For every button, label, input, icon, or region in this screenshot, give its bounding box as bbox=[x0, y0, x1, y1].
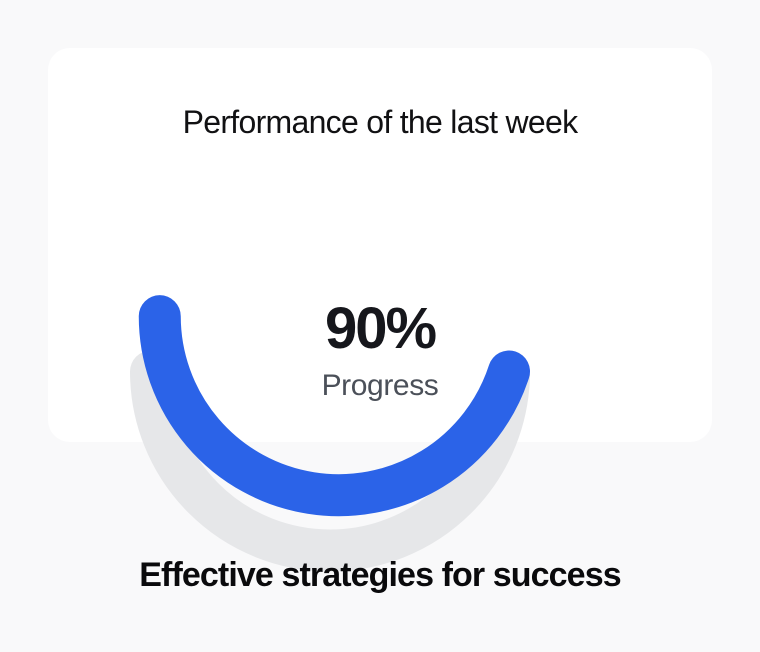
gauge-chart: 90% Progress bbox=[48, 162, 712, 412]
page-title: Performance of the last week bbox=[48, 102, 712, 142]
page-root: Performance of the last week 90% Progres… bbox=[0, 0, 760, 652]
gauge-arc-svg bbox=[130, 162, 530, 402]
gauge-progress-arc bbox=[160, 316, 509, 495]
bottom-heading: Effective strategies for success bbox=[0, 552, 760, 598]
performance-card: Performance of the last week 90% Progres… bbox=[48, 48, 712, 442]
